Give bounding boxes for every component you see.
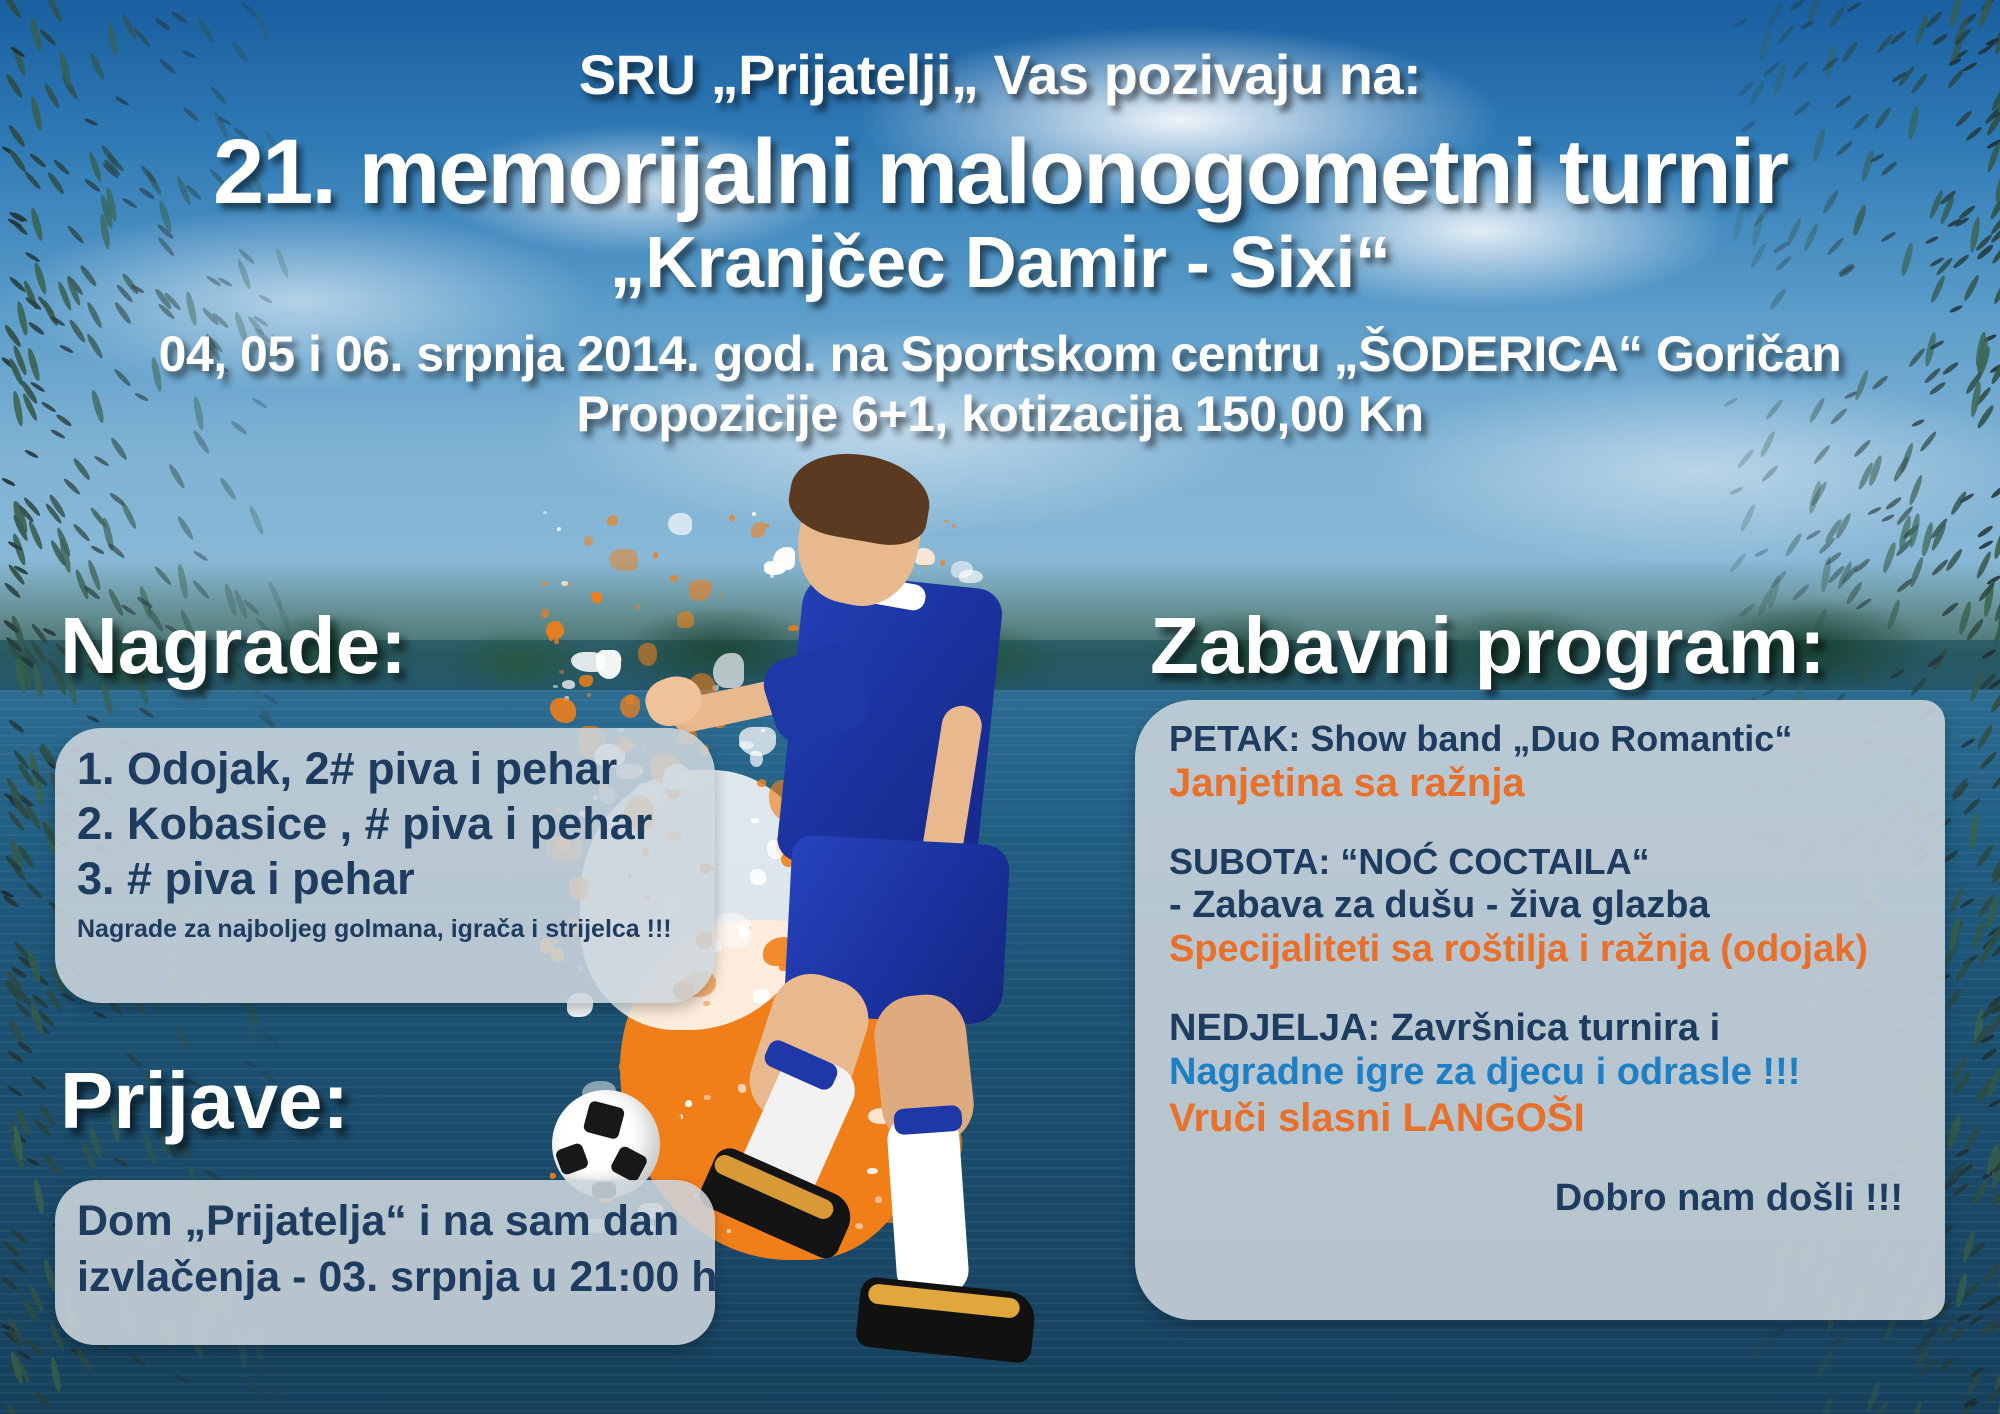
program-saturday-food: Specijaliteti sa roštilja i ražnja (odoj…: [1169, 927, 1925, 971]
program-sunday-games: Nagradne igre za djecu i odrasle !!!: [1169, 1050, 1925, 1094]
program-welcome-message: Dobro nam došli !!!: [1169, 1176, 1925, 1220]
prizes-panel: 1. Odojak, 2# piva i pehar 2. Kobasice ,…: [55, 728, 715, 1003]
poster-title: 21. memorijalni malonogometni turnir: [0, 120, 2000, 225]
event-rules-fee: Propozicije 6+1, kotizacija 150,00 Kn: [0, 385, 2000, 443]
prize-item-1: 1. Odojak, 2# piva i pehar: [77, 742, 701, 797]
ball-panel: [582, 1100, 625, 1140]
poster-subtitle: „Kranjčec Damir - Sixi“: [0, 222, 2000, 304]
program-friday-food: Janjetina sa ražnja: [1169, 760, 1925, 807]
program-saturday-music: - Zabava za dušu - živa glazba: [1169, 883, 1925, 927]
program-saturday-title: SUBOTA: “NOĆ COCTAILA“: [1169, 841, 1925, 883]
registration-line-1: Dom „Prijatelja“ i na sam dan: [77, 1194, 701, 1250]
registration-heading: Prijave:: [60, 1055, 349, 1147]
ball-panel: [554, 1142, 589, 1176]
prizes-note: Nagrade za najboljeg golmana, igrača i s…: [77, 915, 701, 944]
registration-lines: Dom „Prijatelja“ i na sam dan izvlačenja…: [77, 1194, 701, 1306]
prizes-heading: Nagrade:: [60, 600, 407, 692]
prizes-list: 1. Odojak, 2# piva i pehar 2. Kobasice ,…: [77, 742, 701, 944]
program-friday-band: PETAK: Show band „Duo Romantic“: [1169, 718, 1925, 760]
program-spacer: [1169, 1142, 1925, 1176]
ball-panel: [609, 1145, 649, 1184]
program-sunday-final: NEDJELJA: Završnica turnira i: [1169, 1006, 1925, 1050]
invite-line: SRU „Prijatelji„ Vas pozivaju na:: [0, 42, 2000, 107]
event-date-venue: 04, 05 i 06. srpnja 2014. god. na Sports…: [0, 325, 2000, 383]
tournament-poster: SRU „Prijatelji„ Vas pozivaju na: 21. me…: [0, 0, 2000, 1414]
program-spacer: [1169, 972, 1925, 1006]
program-content: PETAK: Show band „Duo Romantic“ Janjetin…: [1169, 718, 1925, 1220]
prize-item-3: 3. # piva i pehar: [77, 852, 701, 907]
program-panel: PETAK: Show band „Duo Romantic“ Janjetin…: [1135, 700, 1945, 1320]
player-right-sock: [886, 1113, 970, 1298]
program-spacer: [1169, 807, 1925, 841]
program-heading: Zabavni program:: [1150, 600, 1826, 692]
program-sunday-food: Vruči slasni LANGOŠI: [1169, 1095, 1925, 1142]
prize-item-2: 2. Kobasice , # piva i pehar: [77, 797, 701, 852]
registration-panel: Dom „Prijatelja“ i na sam dan izvlačenja…: [55, 1180, 715, 1345]
player-right-sock-band: [893, 1105, 963, 1136]
registration-line-2: izvlačenja - 03. srpnja u 21:00 h: [77, 1250, 701, 1306]
